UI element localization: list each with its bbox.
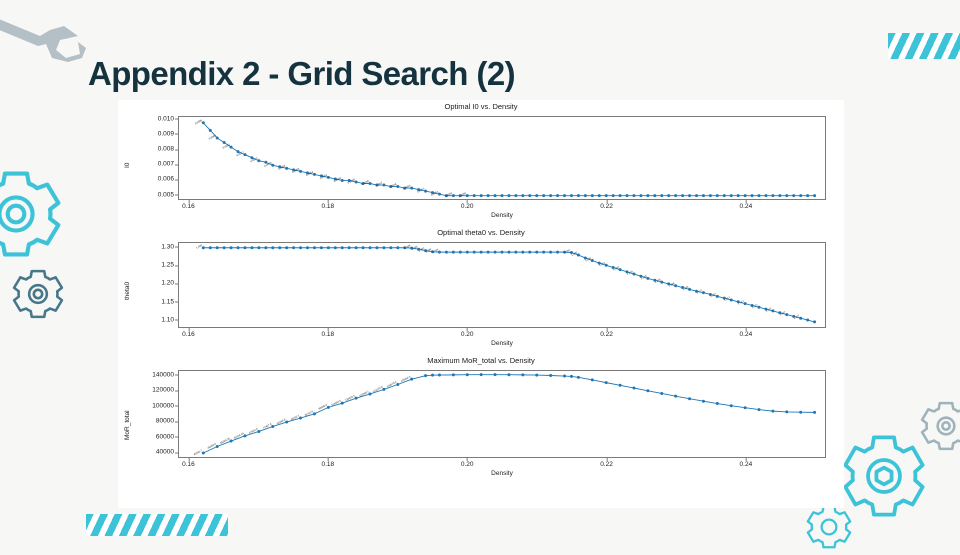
data-point [528,251,531,254]
x-tick-label: 0.22 [600,328,613,338]
data-point [216,246,219,249]
data-point-label: 0.0056 [388,182,397,190]
data-point-label: 128579.2 [386,380,398,389]
chart-title: Optimal theta0 vs. Density [118,228,844,237]
plot-area: 0.00980.00880.00820.00770.00730.00700.00… [178,116,826,200]
data-point-label: 1.216 [640,274,648,281]
x-tick-label: 0.22 [600,200,613,210]
gear-icon [806,504,852,550]
data-point [674,194,677,197]
data-point [355,246,358,249]
data-point [209,246,212,249]
data-point-label: 1.107 [793,313,801,320]
data-point-label: 1.288 [431,247,439,254]
data-point [507,194,510,197]
series-plot: 0.00980.00880.00820.00770.00730.00700.00… [179,117,825,199]
data-point-label: 1.240 [612,265,620,272]
data-point [570,375,573,378]
data-point [466,373,469,376]
data-point [521,194,524,197]
data-point [494,251,497,254]
data-point [639,194,642,197]
data-point-label: 0.0060 [333,176,342,184]
data-point [626,194,629,197]
y-tick-label: 1.10 [161,316,174,323]
data-point-label: 1.289 [424,247,432,254]
data-point [806,319,809,322]
chart-title: Maximum MoR_total vs. Density [118,356,844,365]
data-point [521,373,524,376]
data-point [382,246,385,249]
data-point [660,392,663,395]
data-point [362,246,365,249]
data-point [445,251,448,254]
data-point [667,194,670,197]
series-plot: 40150.748559.855609.3662316.4467942.0744… [179,371,825,457]
data-point [459,251,462,254]
data-point [396,246,399,249]
x-tick-label: 0.24 [740,200,753,210]
data-point [619,194,622,197]
data-point [535,194,538,197]
data-point-label: 0.0050 [444,191,453,199]
gear-icon [842,434,926,518]
data-point [632,194,635,197]
x-tick-label: 0.24 [740,328,753,338]
data-point [598,194,601,197]
data-point [466,251,469,254]
data-point [431,374,434,377]
y-tick-label: 40000 [156,449,174,456]
data-point [730,404,733,407]
data-point [223,141,226,144]
data-point [549,251,552,254]
data-point [591,378,594,381]
figure-maximum-mor-total: Maximum MoR_total vs. Density MoR_total … [118,354,844,490]
data-point [730,194,733,197]
data-point [334,246,337,249]
data-point-label: 1.186 [681,284,689,291]
data-point [653,194,656,197]
y-tick-label: 140000 [152,371,174,378]
data-point [243,246,246,249]
series-line [203,375,814,453]
data-point [452,251,455,254]
data-point [501,251,504,254]
data-point [424,374,427,377]
data-point [813,411,816,414]
data-point [785,410,788,413]
data-point [764,194,767,197]
data-point [285,246,288,249]
chart-panel: Optimal I0 vs. Density I0 0.0050.0060.00… [118,100,844,508]
data-point [480,251,483,254]
data-point [737,194,740,197]
data-point-label: 0.0051 [430,189,439,197]
y-tick-label: 0.007 [158,161,174,168]
data-point [320,246,323,249]
data-point-label: 1.157 [723,295,731,302]
diagonal-stripes-bottom-left [86,514,228,536]
data-point [487,194,490,197]
data-point-label: 1.177 [695,288,703,295]
y-tick-label: 80000 [156,418,174,425]
chart-title: Optimal I0 vs. Density [118,102,844,111]
gear-icon [920,400,960,452]
data-point [389,246,392,249]
data-point-label: 122233.8 [372,385,384,394]
x-tick-label: 0.24 [740,458,753,468]
data-point [549,194,552,197]
x-tick-label: 0.18 [321,200,334,210]
data-point [806,194,809,197]
diagonal-stripes-top-right [888,33,960,59]
data-point [716,402,719,405]
data-point [480,373,483,376]
data-point [612,194,615,197]
data-point [799,411,802,414]
data-point-label: 1.196 [668,281,676,288]
data-point [375,246,378,249]
data-point [549,374,552,377]
data-point [257,246,260,249]
data-point [605,194,608,197]
data-point-label: 0.0066 [291,166,300,174]
data-point [278,246,281,249]
x-tick-label: 0.16 [182,328,195,338]
series-line [203,248,814,322]
data-point-label: 0.0088 [208,133,217,141]
y-axis-ticks: 1.101.151.201.251.30 [118,242,174,326]
data-point-label: 0.0050 [458,191,467,199]
data-point [452,373,455,376]
x-tick-label: 0.20 [461,200,474,210]
data-point [785,194,788,197]
x-tick-label: 0.16 [182,200,195,210]
data-point-label: 0.0098 [194,118,203,126]
data-point [778,194,781,197]
y-tick-label: 1.25 [161,262,174,269]
y-tick-label: 60000 [156,433,174,440]
data-point [646,194,649,197]
data-point [660,194,663,197]
data-point [744,406,747,409]
data-point-label: 0.0068 [277,163,286,171]
data-point [306,246,309,249]
data-point [438,374,441,377]
data-point-label: 0.0059 [347,177,356,185]
data-point [556,194,559,197]
data-point-label: 1.300 [195,243,203,250]
data-point [250,246,253,249]
y-tick-label: 1.20 [161,280,174,287]
data-point-label: 1.127 [765,306,773,313]
data-point [264,246,267,249]
data-point [702,400,705,403]
data-point [542,194,545,197]
x-tick-label: 0.18 [321,328,334,338]
data-point [619,384,622,387]
data-point [771,410,774,413]
gear-icon [12,268,64,320]
data-point [584,194,587,197]
y-axis-ticks: 400006000080000100000120000140000 [118,370,174,456]
wrench-icon [0,6,104,62]
page-title: Appendix 2 - Grid Search (2) [88,55,515,93]
data-point [313,246,316,249]
data-point-label: 104484.5 [330,398,342,407]
data-point [348,246,351,249]
data-point-label: 1.287 [563,248,571,255]
data-point-label: 0.0057 [375,180,384,188]
data-point [688,194,691,197]
y-tick-label: 0.009 [158,130,174,137]
data-point [771,194,774,197]
y-tick-label: 0.008 [158,146,174,153]
data-point [813,320,816,323]
data-point-label: 1.206 [654,277,662,284]
figure-optimal-i0: Optimal I0 vs. Density I0 0.0050.0060.00… [118,100,844,226]
y-tick-label: 0.010 [158,115,174,122]
data-point [744,194,747,197]
y-tick-label: 0.006 [158,176,174,183]
data-point [480,194,483,197]
data-point [542,251,545,254]
x-tick-label: 0.22 [600,458,613,468]
y-tick-label: 1.15 [161,298,174,305]
data-point-label: 1.167 [709,291,717,298]
data-point [674,395,677,398]
x-tick-label: 0.18 [321,458,334,468]
data-point [507,373,510,376]
series-plot: 1.3001.2991.2961.2921.2891.2881.2871.280… [179,243,825,327]
data-point-label: 0.0062 [319,173,328,181]
data-point-label: 116368.1 [358,389,370,398]
data-point [688,397,691,400]
data-point [528,194,531,197]
data-point [473,194,476,197]
data-point-label: 0.0055 [402,183,411,191]
data-point [751,194,754,197]
data-point [209,129,212,132]
data-point [494,373,497,376]
data-point [563,194,566,197]
data-point [799,194,802,197]
data-point [292,246,295,249]
data-point [695,194,698,197]
data-point-label: 1.147 [737,299,745,306]
data-point [758,408,761,411]
y-tick-label: 1.30 [161,243,174,250]
data-point [681,194,684,197]
data-point [702,194,705,197]
data-point [556,251,559,254]
data-point-label: 40150.7 [193,448,204,456]
y-tick-label: 120000 [152,387,174,394]
data-point [570,194,573,197]
data-point [563,375,566,378]
y-axis-ticks: 0.0050.0060.0070.0080.0090.010 [118,116,174,198]
figure-optimal-theta0: Optimal theta0 vs. Density theta0 1.101.… [118,226,844,354]
data-point [299,246,302,249]
data-point [577,194,580,197]
data-point [591,194,594,197]
data-point [507,251,510,254]
x-tick-label: 0.20 [461,328,474,338]
data-point [494,194,497,197]
data-point [237,246,240,249]
data-point [341,246,344,249]
data-point [487,251,490,254]
data-point-label: 1.228 [626,269,634,276]
data-point-label: 0.0058 [361,179,370,187]
data-point [535,251,538,254]
data-point [327,246,330,249]
data-point [813,194,816,197]
x-axis-label: Density [178,470,826,477]
plot-area: 40150.748559.855609.3662316.4467942.0744… [178,370,826,458]
data-point [514,251,517,254]
data-point-label: 85312.1 [290,413,301,421]
data-point [223,246,226,249]
data-point-label: 1.252 [598,260,606,267]
x-axis-label: Density [178,340,826,347]
series-line [203,123,814,196]
data-point [230,246,233,249]
plot-area: 1.3001.2991.2961.2921.2891.2881.2871.280… [178,242,826,328]
y-tick-label: 100000 [152,402,174,409]
x-tick-label: 0.20 [461,458,474,468]
data-point [473,251,476,254]
data-point [577,376,580,379]
data-point-label: 0.0053 [416,186,425,194]
data-point [535,374,538,377]
x-tick-label: 0.16 [182,458,195,468]
data-point [723,194,726,197]
data-point [369,246,372,249]
data-point [632,387,635,390]
data-point-label: 0.0064 [305,169,314,177]
data-point-label: 1.137 [751,302,759,309]
data-point [646,389,649,392]
data-point [605,381,608,384]
data-point [501,194,504,197]
data-point [716,194,719,197]
data-point [792,194,795,197]
x-axis-label: Density [178,212,826,219]
y-tick-label: 0.005 [158,191,174,198]
data-point [521,251,524,254]
data-point [514,194,517,197]
data-point [271,246,274,249]
data-point [758,194,761,197]
gear-icon [0,168,62,260]
data-point [709,194,712,197]
